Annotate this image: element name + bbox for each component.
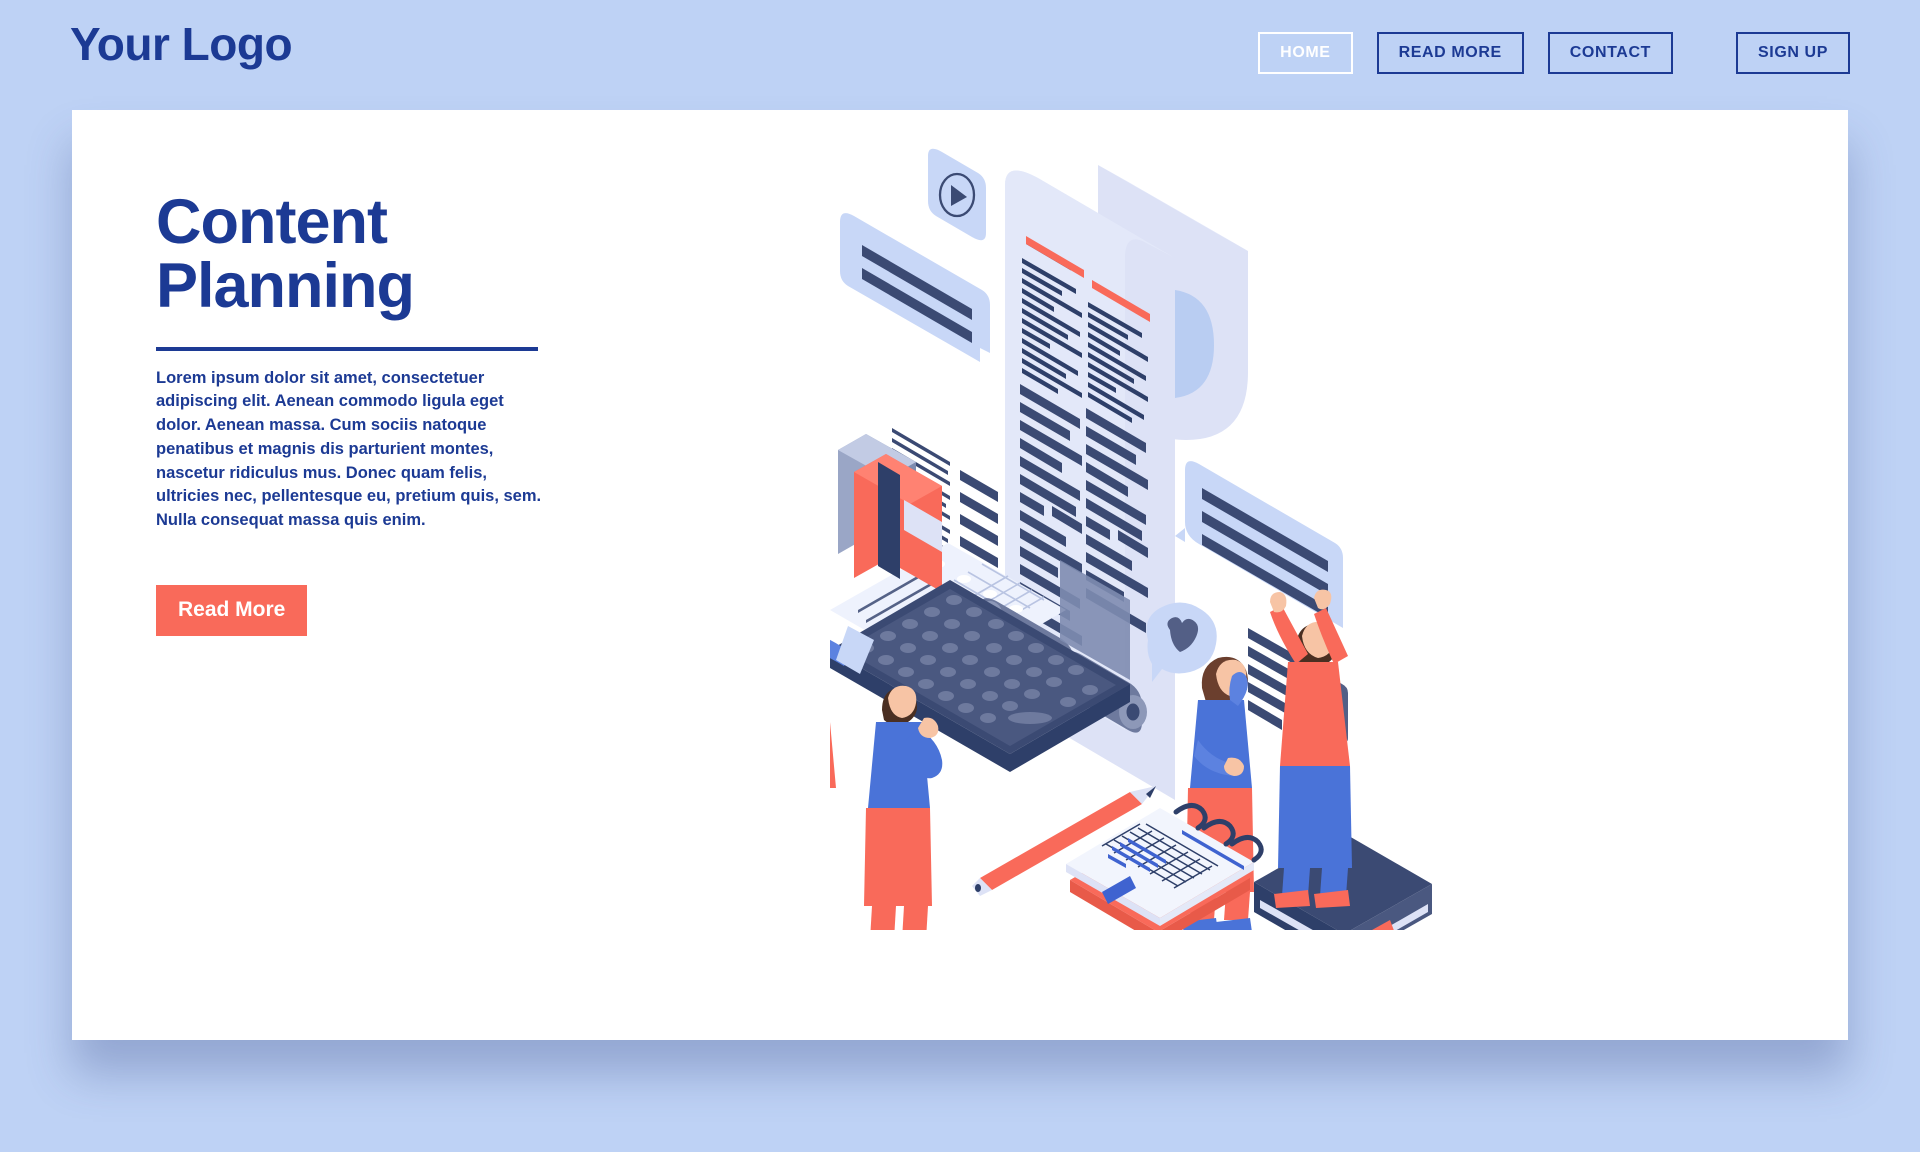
hero-text-block: Content Planning Lorem ipsum dolor sit a… [156,190,586,636]
hero-description: Lorem ipsum dolor sit amet, consectetuer… [156,367,548,533]
nav-item-home[interactable]: HOME [1258,32,1352,74]
person-man-reaching-up [1270,590,1352,908]
hero-illustration [830,140,1530,930]
nav-item-contact[interactable]: CONTACT [1548,32,1673,74]
page-title: Content Planning [156,190,586,319]
page-title-line-1: Content [156,187,387,257]
site-header: Your Logo HOME READ MORE CONTACT SIGN UP [0,0,1920,110]
nav-item-sign-up[interactable]: SIGN UP [1736,32,1850,74]
title-underline-divider [156,347,538,351]
nav-item-read-more[interactable]: READ MORE [1377,32,1524,74]
page-title-line-2: Planning [156,251,414,321]
stacked-books [838,434,942,592]
main-navigation: HOME READ MORE CONTACT SIGN UP [1258,32,1850,74]
speech-bubble-left [840,213,990,362]
video-play-card [928,149,986,240]
read-more-cta-button[interactable]: Read More [156,585,307,636]
site-logo[interactable]: Your Logo [70,17,292,72]
person-man-at-typewriter [864,686,942,930]
